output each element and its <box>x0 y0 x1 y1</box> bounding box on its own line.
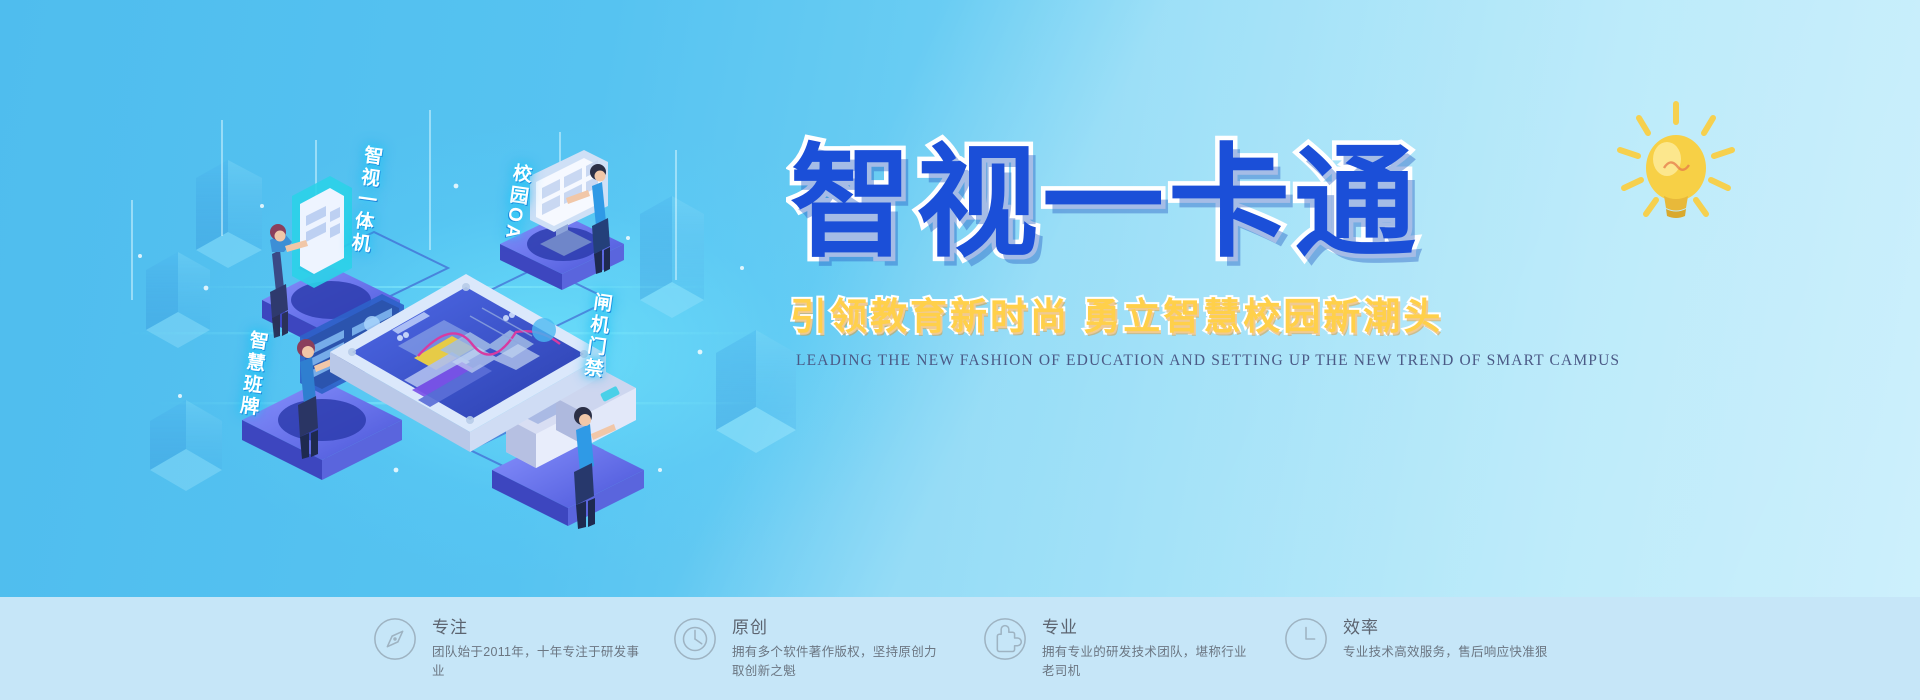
feature-title: 效率 <box>1343 613 1553 638</box>
isometric-illustration: 智视一体机 校园OA 智慧班牌 闸机门禁 <box>0 0 900 600</box>
feature-desc: 拥有多个软件著作版权，坚持原创力取创新之魁 <box>732 643 942 681</box>
feature-desc: 团队始于2011年，十年专注于研发事业 <box>432 643 642 681</box>
feature-item-zhuanye[interactable]: 专业 拥有专业的研发技术团队，堪称行业老司机 <box>982 611 1252 681</box>
feature-item-xiaolv[interactable]: 效率 专业技术高效服务，售后响应快准狠 <box>1283 611 1553 662</box>
lightbulb-icon <box>1606 96 1746 236</box>
feature-text: 原创 拥有多个软件著作版权，坚持原创力取创新之魁 <box>732 611 942 681</box>
hero-subtitle: 引领教育新时尚 勇立智慧校园新潮头 <box>790 286 1880 340</box>
feature-title: 原创 <box>732 613 942 638</box>
illustration-art <box>0 0 900 600</box>
feature-text: 专注 团队始于2011年，十年专注于研发事业 <box>432 611 642 681</box>
feature-title: 专注 <box>432 613 642 638</box>
banner-stage: 智视一体机 校园OA 智慧班牌 闸机门禁 智视一卡通 引领教育新时尚 勇立智慧校… <box>0 0 1920 700</box>
compass-icon <box>372 616 418 662</box>
clock-icon <box>1283 616 1329 662</box>
feature-bar: 专注 团队始于2011年，十年专注于研发事业 原创 拥有多个软件著作版权，坚持原… <box>0 597 1920 700</box>
feature-text: 效率 专业技术高效服务，售后响应快准狠 <box>1343 611 1553 662</box>
feature-desc: 拥有专业的研发技术团队，堪称行业老司机 <box>1042 643 1252 681</box>
feature-desc: 专业技术高效服务，售后响应快准狠 <box>1343 643 1553 662</box>
feature-item-yuanchuang[interactable]: 原创 拥有多个软件著作版权，坚持原创力取创新之魁 <box>672 611 942 681</box>
puzzle-piece-icon <box>982 616 1028 662</box>
feature-title: 专业 <box>1042 613 1252 638</box>
hero-english-tagline: LEADING THE NEW FASHION OF EDUCATION AND… <box>796 352 1880 370</box>
promo-banner: 智视一体机 校园OA 智慧班牌 闸机门禁 智视一卡通 引领教育新时尚 勇立智慧校… <box>0 0 1920 700</box>
feature-text: 专业 拥有专业的研发技术团队，堪称行业老司机 <box>1042 611 1252 681</box>
clock-dial-icon <box>672 616 718 662</box>
feature-item-zhuanzhu[interactable]: 专注 团队始于2011年，十年专注于研发事业 <box>372 611 642 681</box>
